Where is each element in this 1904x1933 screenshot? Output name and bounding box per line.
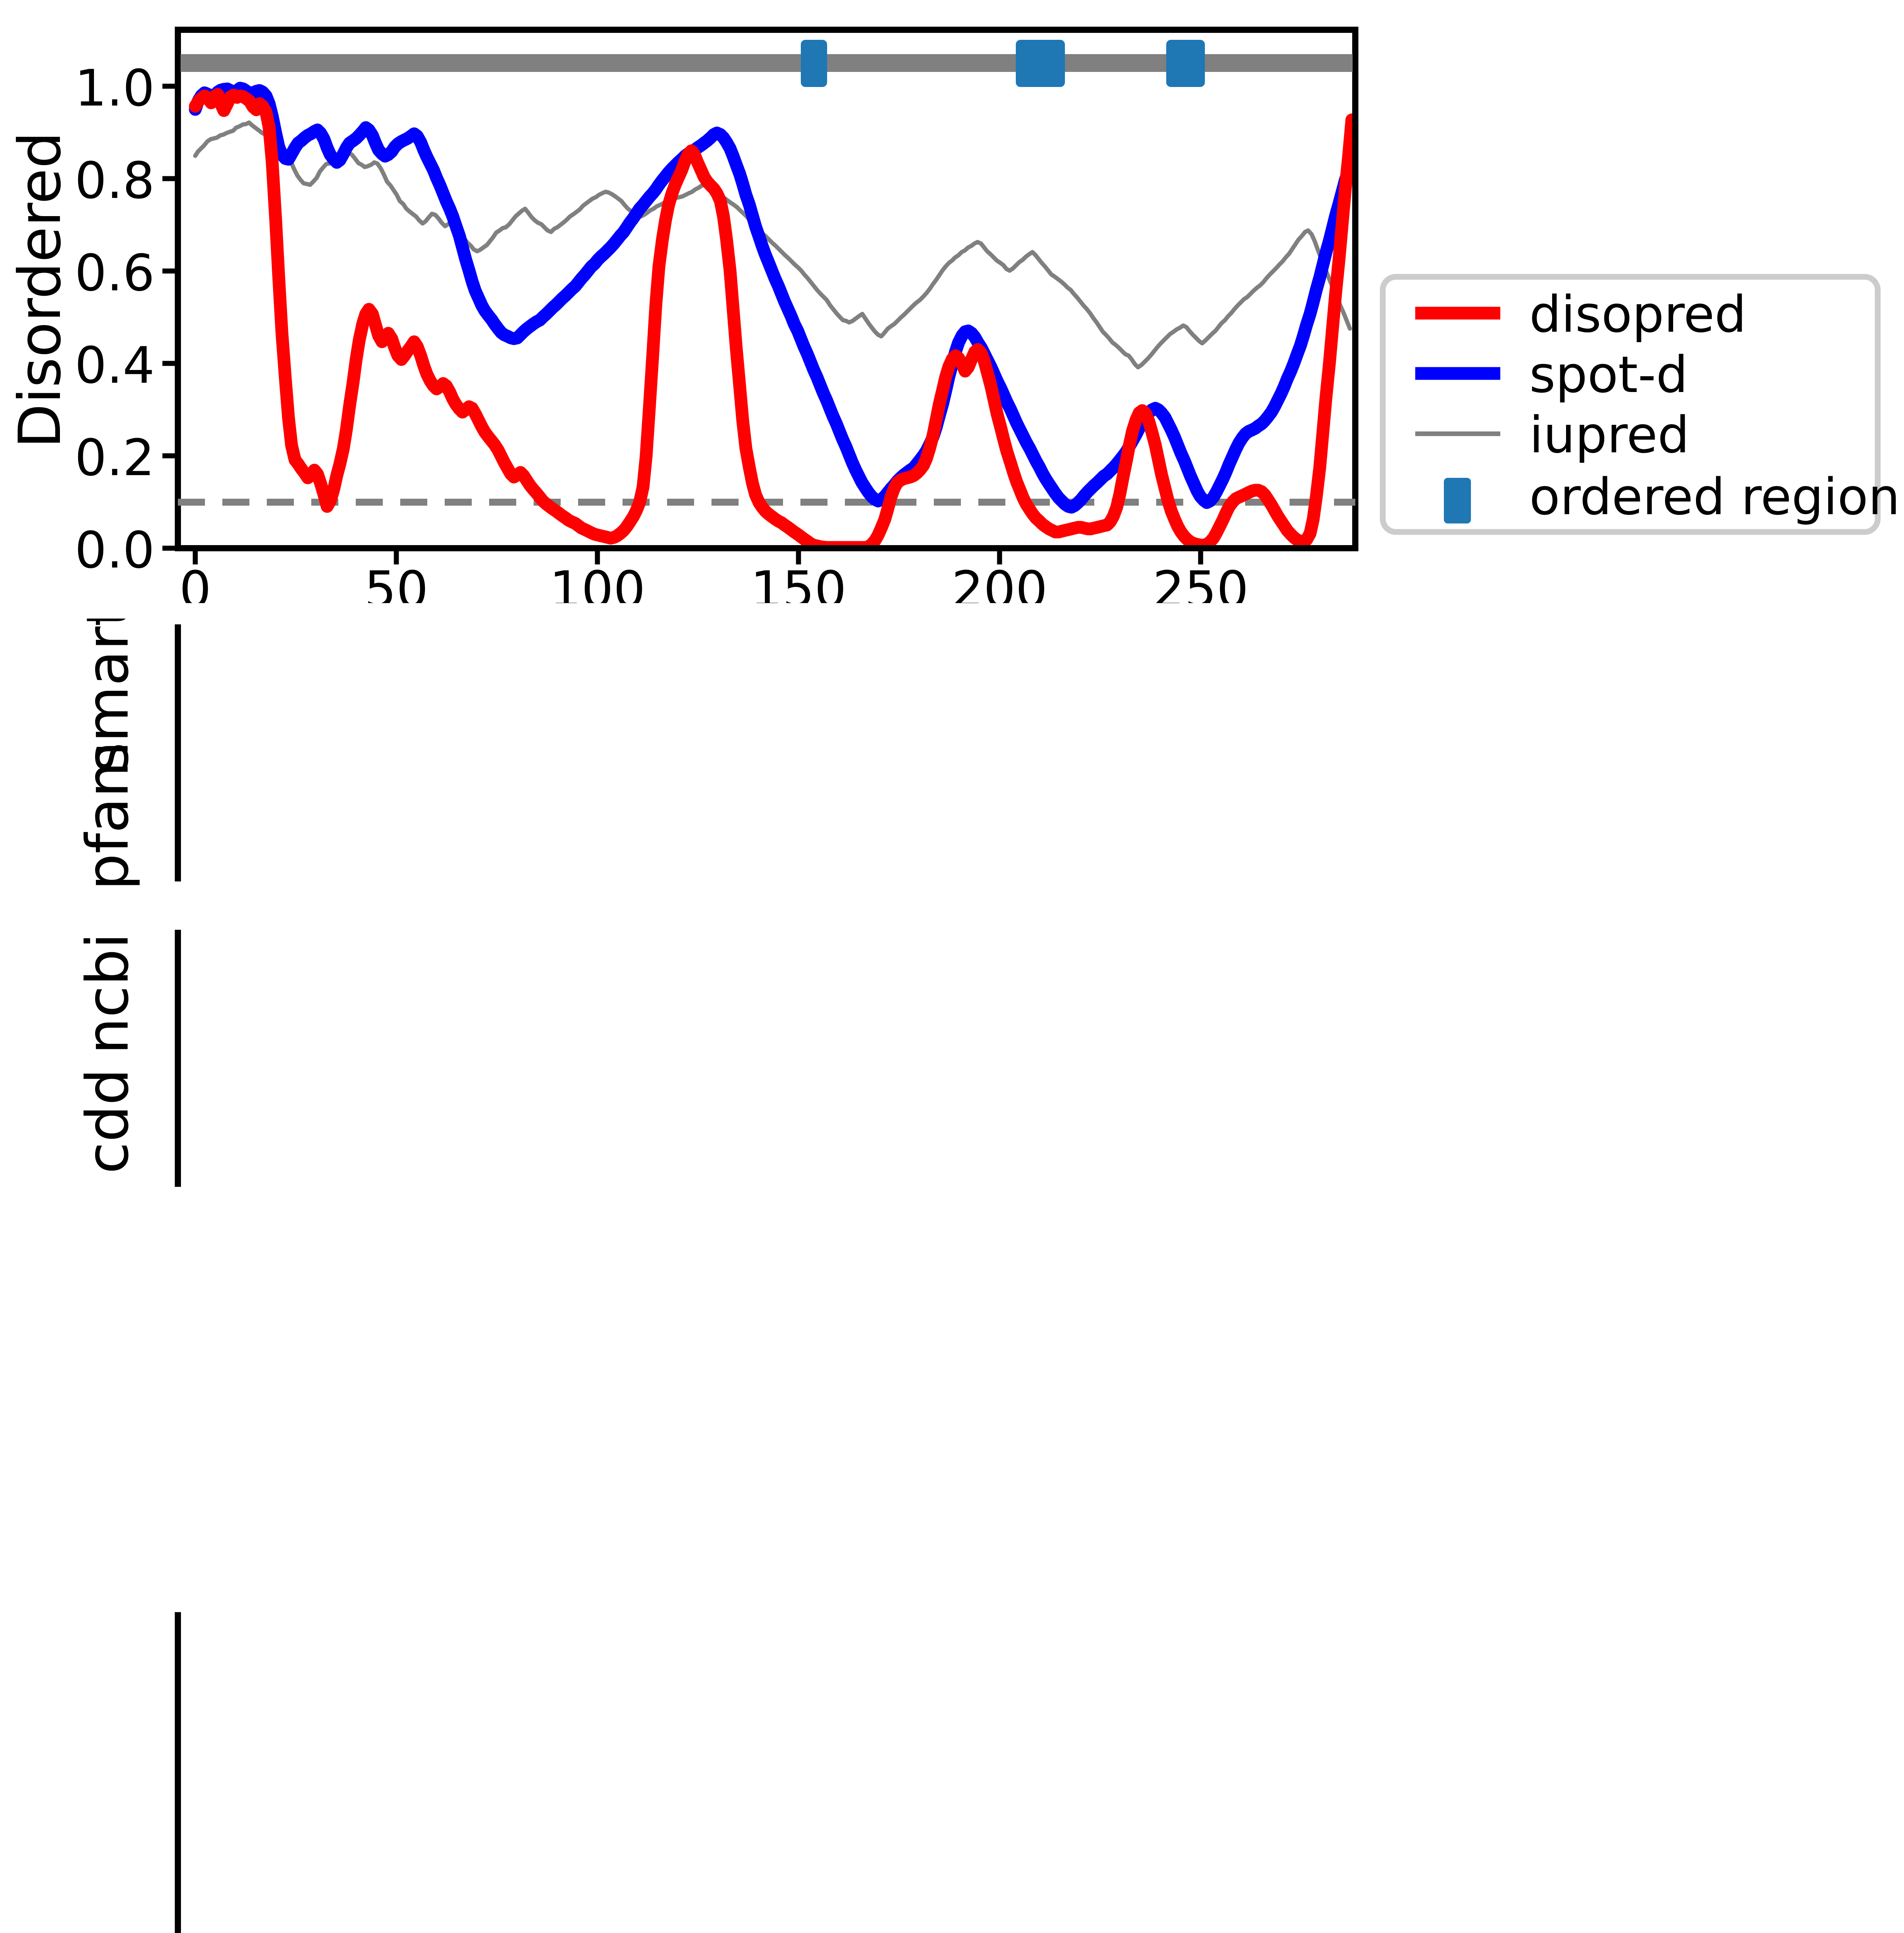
x-tick-label: 250 bbox=[1153, 560, 1249, 603]
legend-label: spot-d bbox=[1529, 345, 1688, 404]
figure-canvas: 0.0 0.2 0.4 0.6 0.8 1.0 Disordered bbox=[0, 0, 1904, 1933]
panel-label-pfam: pfam bbox=[74, 741, 142, 889]
y-axis-ticks: 0.0 0.2 0.4 0.6 0.8 1.0 bbox=[75, 59, 178, 580]
disorder-panel: 0.0 0.2 0.4 0.6 0.8 1.0 Disordered bbox=[0, 0, 1904, 603]
x-tick-label: 150 bbox=[751, 560, 846, 603]
x-tick-label: 50 bbox=[364, 560, 428, 603]
legend-swatch-patch bbox=[1444, 478, 1471, 523]
ss-nes-svg: SS NES Helix Coil Sheet bbox=[0, 1604, 1904, 1933]
x-axis-ticks: 0 50 100 150 200 250 bbox=[179, 548, 1249, 603]
y-tick-label: 0.4 bbox=[75, 336, 155, 395]
legend-label: ordered region bbox=[1529, 467, 1900, 526]
y-tick-label: 0.0 bbox=[75, 521, 155, 580]
ss-nes-panel: SS NES Helix Coil Sheet bbox=[0, 1604, 1904, 1933]
x-tick-label: 200 bbox=[952, 560, 1048, 603]
ordered-region-marker bbox=[801, 40, 827, 87]
y-tick-label: 1.0 bbox=[75, 59, 155, 118]
y-tick-label: 0.2 bbox=[75, 428, 155, 487]
legend-label: iupred bbox=[1529, 406, 1689, 464]
ordered-region-marker bbox=[1166, 40, 1205, 87]
disorder-plot-svg: 0.0 0.2 0.4 0.6 0.8 1.0 Disordered bbox=[0, 0, 1904, 603]
y-tick-label: 0.6 bbox=[75, 244, 155, 302]
y-axis-title: Disordered bbox=[7, 131, 74, 448]
axes-frame bbox=[178, 30, 1355, 548]
y-tick-label: 0.8 bbox=[75, 151, 155, 210]
ordered-region-marker bbox=[1016, 40, 1065, 87]
x-tick-label: 0 bbox=[179, 560, 212, 603]
disorder-legend[interactable]: disopred spot-d iupred ordered region bbox=[1383, 277, 1900, 532]
panel-label-ncbi: ncbi bbox=[74, 933, 142, 1054]
legend-label: disopred bbox=[1529, 285, 1747, 344]
smart-pfam-panel: smart pfam bbox=[0, 619, 1904, 889]
x-tick-label: 100 bbox=[549, 560, 645, 603]
ncbi-cdd-panel: ncbi cdd bbox=[0, 924, 1904, 1195]
panel-label-cdd: cdd bbox=[74, 1069, 142, 1174]
